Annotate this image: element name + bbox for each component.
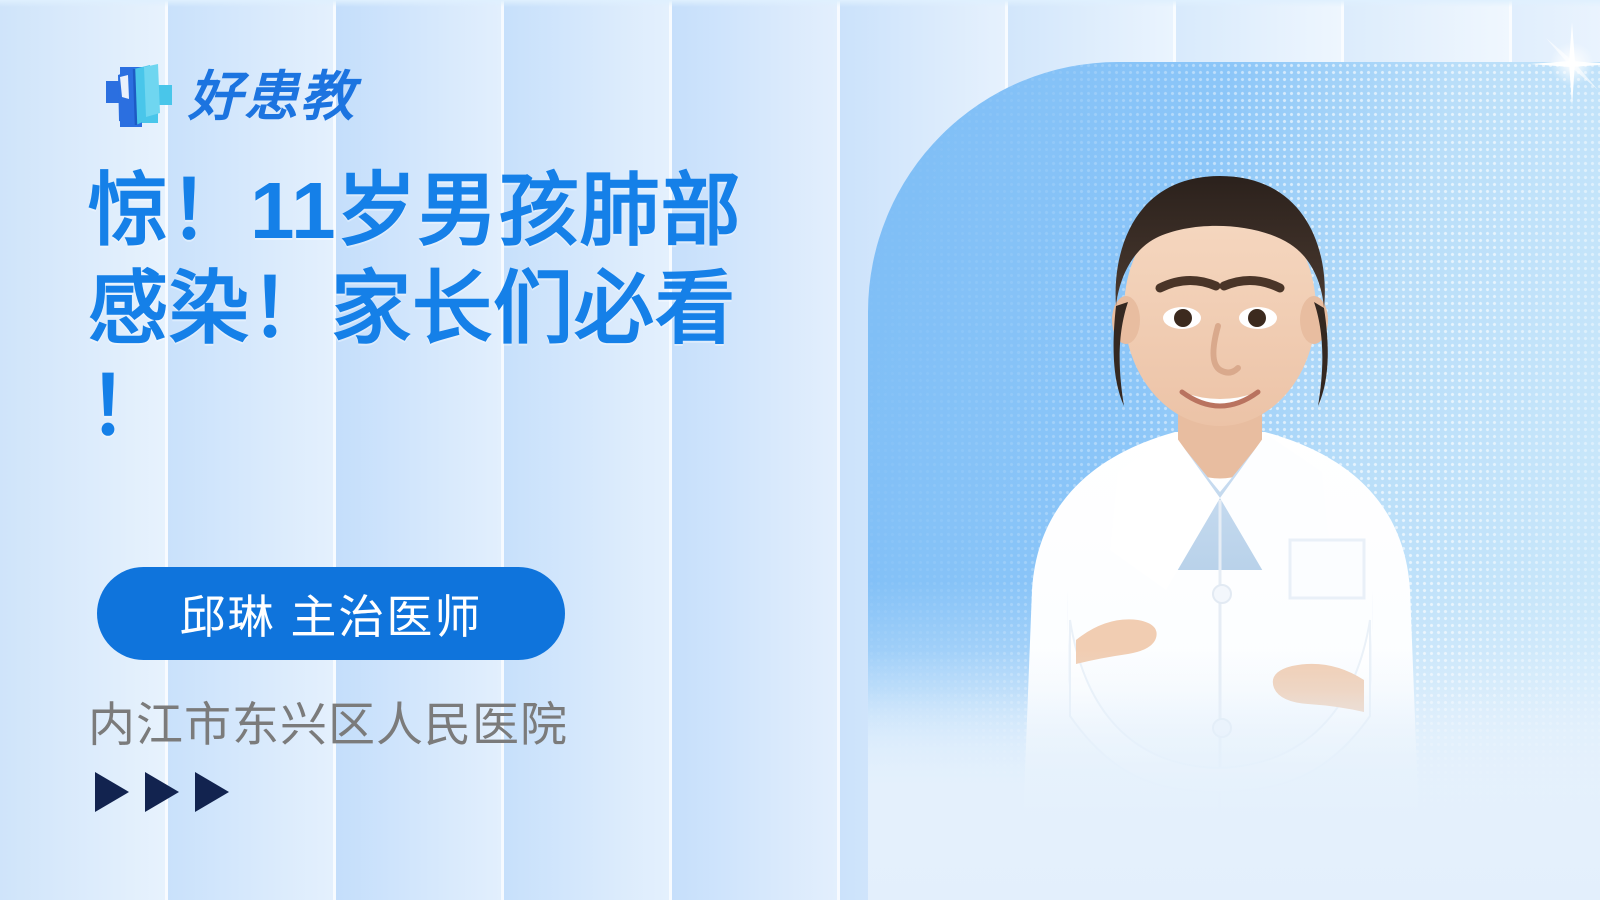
play-arrows (95, 772, 229, 812)
top-sheen (0, 0, 1600, 7)
brand-logo[interactable]: 好患教 (88, 55, 356, 139)
play-triangle-icon (195, 772, 229, 812)
play-triangle-icon (145, 772, 179, 812)
headline-line-2: 感染！家长们必看 (88, 260, 888, 358)
brand-name: 好患教 (188, 70, 356, 124)
medical-cross-book-icon (88, 55, 172, 139)
hospital-name: 内江市东兴区人民医院 (88, 686, 568, 755)
headline-line-1: 惊！11岁男孩肺部 (88, 162, 888, 260)
headline-line-3: ！ (88, 358, 888, 456)
doctor-name-badge[interactable]: 邱琳 主治医师 (97, 567, 565, 660)
doctor-photo-panel (868, 62, 1600, 900)
poster-canvas: 好患教 惊！11岁男孩肺部 感染！家长们必看 ！ 邱琳 主治医师 内江市东兴区人… (0, 0, 1600, 900)
panel-bottom-fade (868, 650, 1600, 900)
play-triangle-icon (95, 772, 129, 812)
page-title: 惊！11岁男孩肺部 感染！家长们必看 ！ (88, 162, 888, 456)
